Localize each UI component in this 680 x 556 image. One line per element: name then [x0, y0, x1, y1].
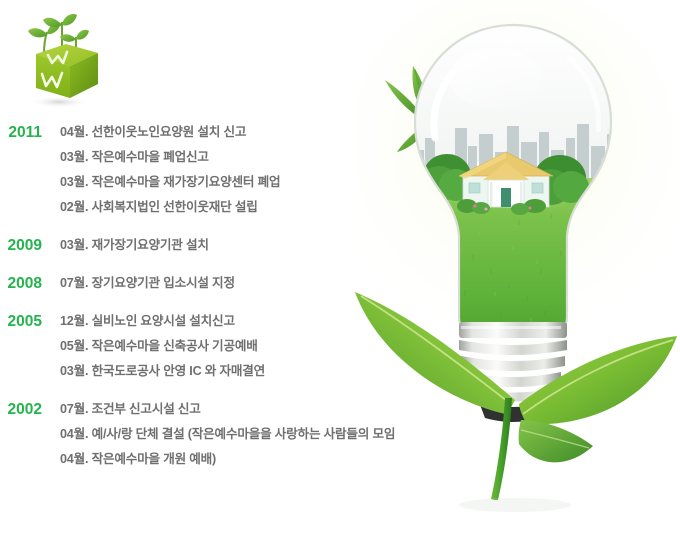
bulb-gloss [449, 48, 541, 108]
year-label: 2008 [0, 271, 60, 296]
event-item: 04월. 작은예수마을 개원 예배) [60, 447, 395, 472]
base-collar [459, 322, 567, 338]
artwork-svg [355, 0, 680, 556]
sprout-leaf-mid-a [43, 18, 62, 28]
timeline-page: 2011 04월. 선한이웃노인요양원 설치 신고 03월. 작은예수마을 폐업… [0, 0, 680, 556]
sprout-leaf-mid-b [62, 14, 77, 26]
base-shine [461, 326, 561, 329]
event-list: 07월. 조건부 신고시설 신고 04월. 예/사/랑 단체 결설 (작은예수마… [60, 397, 395, 472]
year-group-2008: 2008 07월. 장기요양기관 입소시설 지정 [0, 271, 400, 296]
event-item: 05월. 작은예수마을 신축공사 기공예배 [60, 334, 265, 359]
event-item: 04월. 예/사/랑 단체 결설 (작은예수마을을 사랑하는 사람들의 모임 [60, 422, 395, 447]
year-label: 2009 [0, 233, 60, 258]
event-list: 12월. 실비노인 요양시설 설치신고 05월. 작은예수마을 신축공사 기공예… [60, 309, 265, 384]
event-item: 03월. 재가장기요양기관 설치 [60, 233, 209, 258]
leaf-right-small [519, 420, 593, 462]
year-group-2009: 2009 03월. 재가장기요양기관 설치 [0, 233, 400, 258]
event-list: 07월. 장기요양기관 입소시설 지정 [60, 271, 235, 296]
year-group-2011: 2011 04월. 선한이웃노인요양원 설치 신고 03월. 작은예수마을 폐업… [0, 120, 400, 220]
year-group-2002: 2002 07월. 조건부 신고시설 신고 04월. 예/사/랑 단체 결설 (… [0, 397, 400, 472]
year-label: 2002 [0, 397, 60, 422]
event-item: 03월. 한국도로공사 안영 IC 와 자매결연 [60, 359, 265, 384]
event-item: 07월. 장기요양기관 입소시설 지정 [60, 271, 235, 296]
year-group-2005: 2005 12월. 실비노인 요양시설 설치신고 05월. 작은예수마을 신축공… [0, 309, 400, 384]
sprout-leaf-right-b [76, 30, 89, 40]
event-item: 07월. 조건부 신고시설 신고 [60, 397, 395, 422]
sprout-cube-logo [14, 8, 106, 108]
event-item: 02월. 사회복지법인 선한이웃재단 설립 [60, 195, 280, 220]
event-list: 04월. 선한이웃노인요양원 설치 신고 03월. 작은예수마을 폐업신고 03… [60, 120, 280, 220]
artwork-shadow [459, 498, 571, 512]
history-timeline: 2011 04월. 선한이웃노인요양원 설치 신고 03월. 작은예수마을 폐업… [0, 120, 400, 485]
event-item: 12월. 실비노인 요양시설 설치신고 [60, 309, 265, 334]
event-list: 03월. 재가장기요양기관 설치 [60, 233, 209, 258]
event-item: 03월. 작은예수마을 폐업신고 [60, 145, 280, 170]
year-label: 2005 [0, 309, 60, 334]
year-label: 2011 [0, 120, 60, 145]
sprout-leaf-left-a [28, 28, 47, 37]
event-item: 04월. 선한이웃노인요양원 설치 신고 [60, 120, 280, 145]
logo-svg [14, 8, 106, 108]
logo-shadow [29, 96, 89, 108]
event-item: 03월. 작은예수마을 재가장기요양센터 폐업 [60, 170, 280, 195]
eco-lightbulb-illustration [355, 0, 680, 556]
